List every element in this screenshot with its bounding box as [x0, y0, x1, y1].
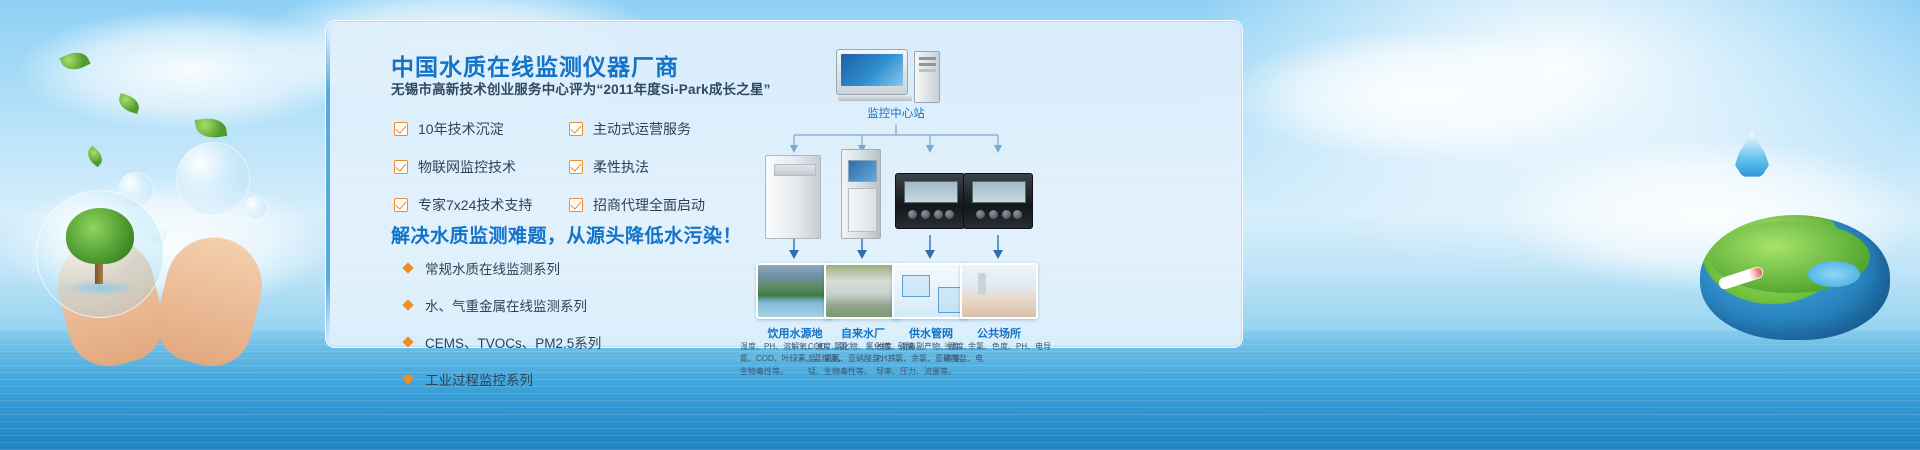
checklist-item-label: 物联网监控技术 — [418, 157, 516, 177]
keyboard-icon — [838, 95, 912, 101]
list-item-label: CEMS、TVOCs、PM2.5系列 — [425, 332, 601, 352]
feature-checklist: 10年技术沉淀 主动式运营服务 物联网监控技术 柔性执法 专家7x24技术支持 … — [394, 119, 744, 215]
keypad-button — [1013, 210, 1022, 219]
hero-panel: 中国水质在线监测仪器厂商 无锡市高新技术创业服务中心评为“2011年度Si-Pa… — [325, 20, 1243, 348]
scene-photo-supply-network — [892, 263, 970, 319]
list-item-label: 常规水质在线监测系列 — [425, 258, 560, 278]
keypad-button — [989, 210, 998, 219]
controller-lcd-screen — [972, 181, 1026, 203]
keypad-button — [1002, 210, 1011, 219]
section-heading: 解决水质监测难题，从源头降低水污染！ — [391, 221, 742, 248]
scene-photo-public-place — [960, 263, 1038, 319]
controller-keypad — [976, 208, 1022, 222]
controller-body — [895, 173, 965, 229]
device-panel-controller — [961, 155, 1035, 247]
cloud-shape — [20, 10, 360, 130]
water-droplet-icon — [1735, 132, 1769, 178]
right-hand — [148, 227, 272, 374]
diamond-bullet-icon — [402, 373, 413, 384]
diamond-bullet-icon — [402, 262, 413, 273]
checkbox-icon — [569, 198, 583, 212]
checkbox-icon — [394, 198, 408, 212]
checklist-item-label: 主动式运营服务 — [593, 119, 691, 139]
node-title: 公共场所 — [944, 325, 1054, 341]
diamond-bullet-icon — [402, 336, 413, 347]
keypad-button — [908, 210, 917, 219]
analyzer-cabinet-body — [765, 155, 821, 239]
checklist-item: 10年技术沉淀 — [394, 119, 569, 139]
list-item: 常规水质在线监测系列 — [404, 258, 601, 278]
tower-icon — [914, 51, 940, 103]
checkbox-icon — [569, 160, 583, 174]
checklist-item: 柔性执法 — [569, 157, 744, 177]
diamond-bullet-icon — [402, 299, 413, 310]
product-series-list: 常规水质在线监测系列 水、气重金属在线监测系列 CEMS、TVOCs、PM2.5… — [404, 258, 601, 406]
analyzer-rack-body — [841, 149, 881, 239]
keypad-button — [921, 210, 930, 219]
checkbox-icon — [394, 122, 408, 136]
checklist-item-label: 招商代理全面启动 — [593, 195, 705, 215]
checklist-item-label: 柔性执法 — [593, 157, 649, 177]
scene-photo-water-plant — [824, 263, 902, 319]
keypad-button — [945, 210, 954, 219]
list-item: 水、气重金属在线监测系列 — [404, 295, 601, 315]
earth-lake — [1808, 261, 1860, 287]
checklist-item: 物联网监控技术 — [394, 157, 569, 177]
checkbox-icon — [394, 160, 408, 174]
keypad-button — [976, 210, 985, 219]
leaf-decoration — [116, 93, 142, 114]
monitor-screen — [841, 54, 903, 86]
leaf-decoration — [84, 146, 106, 168]
controller-body — [963, 173, 1033, 229]
checklist-item: 专家7x24技术支持 — [394, 195, 569, 215]
controller-keypad — [908, 208, 954, 222]
list-item-label: 水、气重金属在线监测系列 — [425, 295, 587, 315]
monitoring-center-label: 监控中心站 — [796, 105, 996, 121]
monitor-icon — [836, 49, 908, 95]
tree-crown — [66, 208, 134, 264]
monitoring-topology-diagram: 监控中心站 饮用水源地 温度、PH、溶解氧、浊度、 — [756, 29, 1226, 347]
page-subtitle: 无锡市高新技术创业服务中心评为“2011年度Si-Park成长之星” — [391, 78, 771, 98]
device-cabinet-analyzer — [757, 147, 831, 239]
panel-left-accent — [326, 29, 330, 341]
leaf-decoration — [195, 116, 227, 140]
monitoring-center-computer — [836, 49, 956, 107]
device-panel-controller — [893, 155, 967, 247]
device-rack-analyzer — [825, 147, 899, 239]
checklist-item: 主动式运营服务 — [569, 119, 744, 139]
keypad-button — [934, 210, 943, 219]
page-title: 中国水质在线监测仪器厂商 — [391, 48, 679, 82]
node-description: 浊度、余氯、色度、PH、电导率等。 — [944, 341, 1052, 366]
list-item: 工业过程监控系列 — [404, 369, 601, 389]
checklist-item: 招商代理全面启动 — [569, 195, 744, 215]
list-item: CEMS、TVOCs、PM2.5系列 — [404, 332, 601, 352]
scene-photo-water-source — [756, 263, 834, 319]
checklist-item-label: 10年技术沉淀 — [418, 119, 504, 139]
leaf-decoration — [59, 47, 90, 74]
controller-lcd-screen — [904, 181, 958, 203]
list-item-label: 工业过程监控系列 — [425, 369, 533, 389]
checklist-item-label: 专家7x24技术支持 — [418, 195, 532, 215]
cloud-shape — [1230, 30, 1610, 160]
checkbox-icon — [569, 122, 583, 136]
